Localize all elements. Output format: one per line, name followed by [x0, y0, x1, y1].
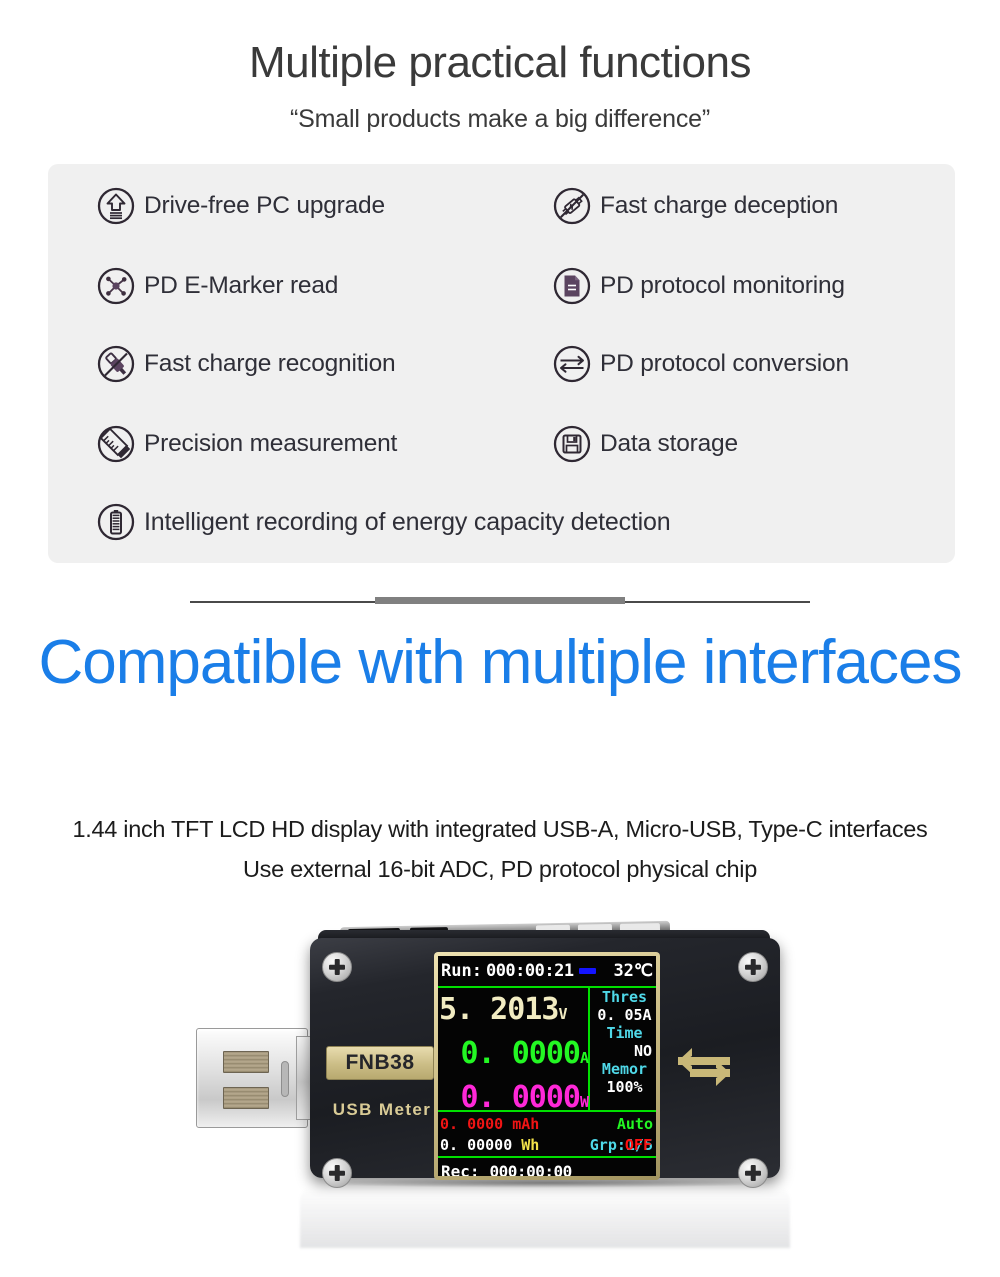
- lcd-accumulators: 0. 0000 mAh 0. 00000 Wh: [438, 1114, 578, 1156]
- divider-bar: [375, 597, 625, 604]
- threshold-value: 0. 05A: [593, 1006, 656, 1024]
- capacity-value: 0. 0000: [440, 1115, 503, 1133]
- lcd-bezel: Run: 000:00:21 32℃ 5. 2013V 0. 0000A: [434, 952, 660, 1180]
- current-readout: 0. 0000A: [439, 1034, 588, 1078]
- device-reflection: [300, 1186, 790, 1248]
- current-value: 0. 0000: [461, 1036, 580, 1071]
- feature-item-pd-e-marker-read: PD E-Marker read: [96, 266, 338, 306]
- screw-bottom-left: [322, 1158, 352, 1188]
- connection-indicator-icon: [579, 968, 596, 974]
- screw-bottom-right: [738, 1158, 768, 1188]
- feature-item-pd-protocol-monitoring: PD protocol monitoring: [552, 266, 845, 306]
- feature-label: Data storage: [600, 430, 738, 458]
- battery-icon: [96, 502, 136, 542]
- power-unit: W: [580, 1093, 588, 1111]
- usb-connector-slot: [281, 1061, 289, 1097]
- description-line-2: Use external 16-bit ADC, PD protocol phy…: [0, 856, 1000, 883]
- feature-label: Precision measurement: [144, 430, 397, 458]
- rec-label: Rec:: [441, 1162, 480, 1177]
- feature-item-fast-charge-deception: Fast charge deception: [552, 186, 838, 226]
- document-icon: [552, 266, 592, 306]
- rec-time: 000:00:00: [490, 1162, 572, 1177]
- crossed-plug-icon: [552, 186, 592, 226]
- time-value: NO: [593, 1042, 656, 1060]
- model-nameplate: FNB38: [326, 1046, 434, 1080]
- lcd-screen: Run: 000:00:21 32℃ 5. 2013V 0. 0000A: [438, 956, 656, 1176]
- usb-plug-icon: [96, 344, 136, 384]
- energy-value: 0. 00000: [440, 1136, 512, 1154]
- time-label: Time: [593, 1024, 656, 1042]
- run-time: 000:00:21: [486, 961, 574, 981]
- lcd-main-readouts: 5. 2013V 0. 0000A 0. 0000W Thres 0. 05A: [438, 988, 656, 1110]
- feature-label: Drive-free PC upgrade: [144, 192, 385, 220]
- feature-label: PD protocol monitoring: [600, 272, 845, 300]
- description-line-1: 1.44 inch TFT LCD HD display with integr…: [0, 816, 1000, 843]
- bidirectional-arrows-logo: [672, 1040, 736, 1092]
- capacity-readout: 0. 0000 mAh: [440, 1114, 578, 1135]
- energy-unit: Wh: [521, 1136, 539, 1154]
- lcd-accumulator-row: 0. 0000 mAh 0. 00000 Wh Auto Grp:1/5: [438, 1112, 656, 1156]
- page-subtitle: “Small products make a big difference”: [0, 105, 1000, 134]
- feature-item-pd-protocol-conversion: PD protocol conversion: [552, 344, 849, 384]
- upload-arrow-icon: [96, 186, 136, 226]
- current-unit: A: [580, 1049, 588, 1067]
- device-subtitle: USB Meter: [326, 1100, 438, 1120]
- threshold-label: Thres: [593, 988, 656, 1006]
- lcd-status-bar: Run: 000:00:21 32℃: [438, 956, 656, 986]
- power-value: 0. 0000: [461, 1080, 580, 1115]
- feature-item-precision-measurement: Precision measurement: [96, 424, 397, 464]
- screw-top-left: [322, 952, 352, 982]
- lcd-measurements: 5. 2013V 0. 0000A 0. 0000W: [438, 988, 588, 1110]
- memory-label: Memor: [593, 1060, 656, 1078]
- molecule-node-icon: [96, 266, 136, 306]
- feature-item-intelligent-recording: Intelligent recording of energy capacity…: [96, 502, 670, 542]
- feature-panel: Drive-free PC upgrade PD E-Marker re: [48, 164, 955, 563]
- voltage-unit: V: [558, 1005, 566, 1023]
- mode-value: Auto: [578, 1114, 653, 1135]
- feature-label: Fast charge deception: [600, 192, 838, 220]
- feature-label: PD E-Marker read: [144, 272, 338, 300]
- feature-label: PD protocol conversion: [600, 350, 849, 378]
- feature-label: Fast charge recognition: [144, 350, 395, 378]
- voltage-value: 5. 2013: [439, 992, 558, 1027]
- exchange-arrows-icon: [552, 344, 592, 384]
- run-label: Run:: [441, 961, 482, 981]
- feature-label: Intelligent recording of energy capacity…: [144, 508, 670, 537]
- rec-status: OFF: [625, 1136, 652, 1154]
- section-divider: [0, 596, 1000, 608]
- temperature-value: 32℃: [613, 961, 653, 981]
- section-title-blue: Compatible with multiple interfaces: [0, 620, 1000, 706]
- voltage-readout: 5. 2013V: [439, 990, 588, 1034]
- feature-item-fast-charge-recognition: Fast charge recognition: [96, 344, 395, 384]
- product-infographic-page: Multiple practical functions “Small prod…: [0, 0, 1000, 1277]
- lcd-side-panel: Thres 0. 05A Time NO Memor 100%: [590, 988, 656, 1110]
- floppy-disk-icon: [552, 424, 592, 464]
- feature-item-data-storage: Data storage: [552, 424, 738, 464]
- screw-top-right: [738, 952, 768, 982]
- ruler-icon: [96, 424, 136, 464]
- memory-value: 100%: [593, 1078, 656, 1096]
- energy-readout: 0. 00000 Wh: [440, 1135, 578, 1156]
- lcd-record-bar: Rec: 000:00:00 OFF: [438, 1158, 656, 1176]
- page-title: Multiple practical functions: [0, 40, 1000, 86]
- feature-item-drive-free-pc-upgrade: Drive-free PC upgrade: [96, 186, 385, 226]
- capacity-unit: mAh: [512, 1115, 539, 1133]
- usb-a-connector: [196, 1028, 308, 1128]
